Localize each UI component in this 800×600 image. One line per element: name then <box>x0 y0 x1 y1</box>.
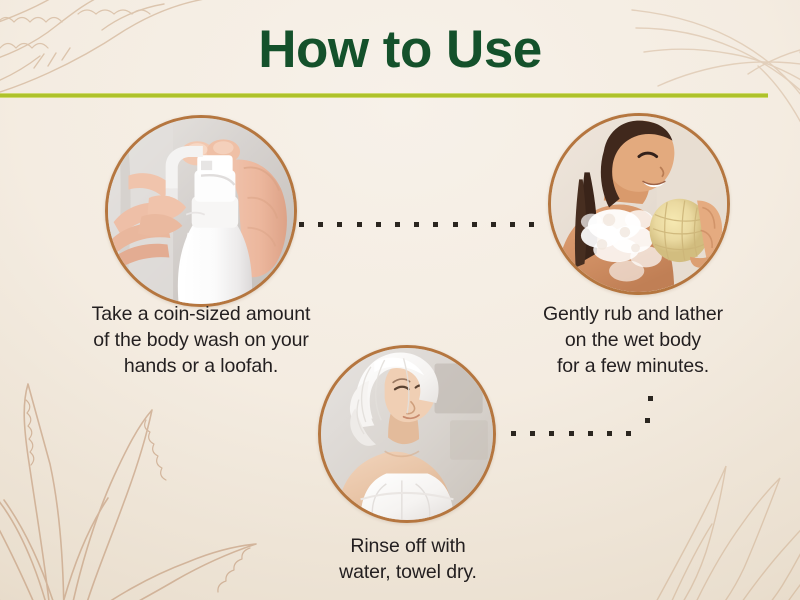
connector-dot <box>588 431 593 436</box>
connector-dot <box>607 431 612 436</box>
connector-dot <box>318 222 323 227</box>
connector-dot <box>376 222 381 227</box>
connector-dot <box>299 222 304 227</box>
connector-dot <box>433 222 438 227</box>
step-1-image-hands-holding-pump-bottle <box>105 115 297 307</box>
connector-dot <box>645 418 650 423</box>
caption-line: on the wet body <box>488 328 778 354</box>
connector-dot <box>357 222 362 227</box>
connector-dot <box>472 222 477 227</box>
caption-line: Rinse off with <box>308 534 508 560</box>
caption-line: for a few minutes. <box>488 354 778 380</box>
step-2-caption: Gently rub and lather on the wet body fo… <box>488 302 778 380</box>
connector-dot <box>549 431 554 436</box>
connector-dot <box>510 222 515 227</box>
caption-line: water, towel dry. <box>308 560 508 586</box>
connector-dot <box>337 222 342 227</box>
connector-dot <box>491 222 496 227</box>
caption-line: Gently rub and lather <box>488 302 778 328</box>
header-divider <box>0 93 768 98</box>
step-3-caption: Rinse off with water, towel dry. <box>308 534 508 586</box>
connector-dot <box>626 431 631 436</box>
infographic-poster: How to Use <box>0 0 800 600</box>
connector-dot <box>648 396 653 401</box>
connector-dot <box>511 431 516 436</box>
step-2-image-woman-lathering-with-loofah <box>548 113 730 295</box>
caption-line: of the body wash on your <box>34 328 368 354</box>
caption-line: hands or a loofah. <box>34 354 368 380</box>
step-1-caption: Take a coin-sized amount of the body was… <box>34 302 368 380</box>
connector-dot <box>395 222 400 227</box>
connector-dot <box>529 222 534 227</box>
caption-line: Take a coin-sized amount <box>34 302 368 328</box>
connector-dot <box>453 222 458 227</box>
botanical-decoration-bottom-right <box>626 428 800 600</box>
botanical-decoration-bottom-left-aloe <box>0 360 260 600</box>
page-title: How to Use <box>0 22 800 78</box>
connector-dot <box>569 431 574 436</box>
connector-dot <box>414 222 419 227</box>
connector-dot <box>530 431 535 436</box>
